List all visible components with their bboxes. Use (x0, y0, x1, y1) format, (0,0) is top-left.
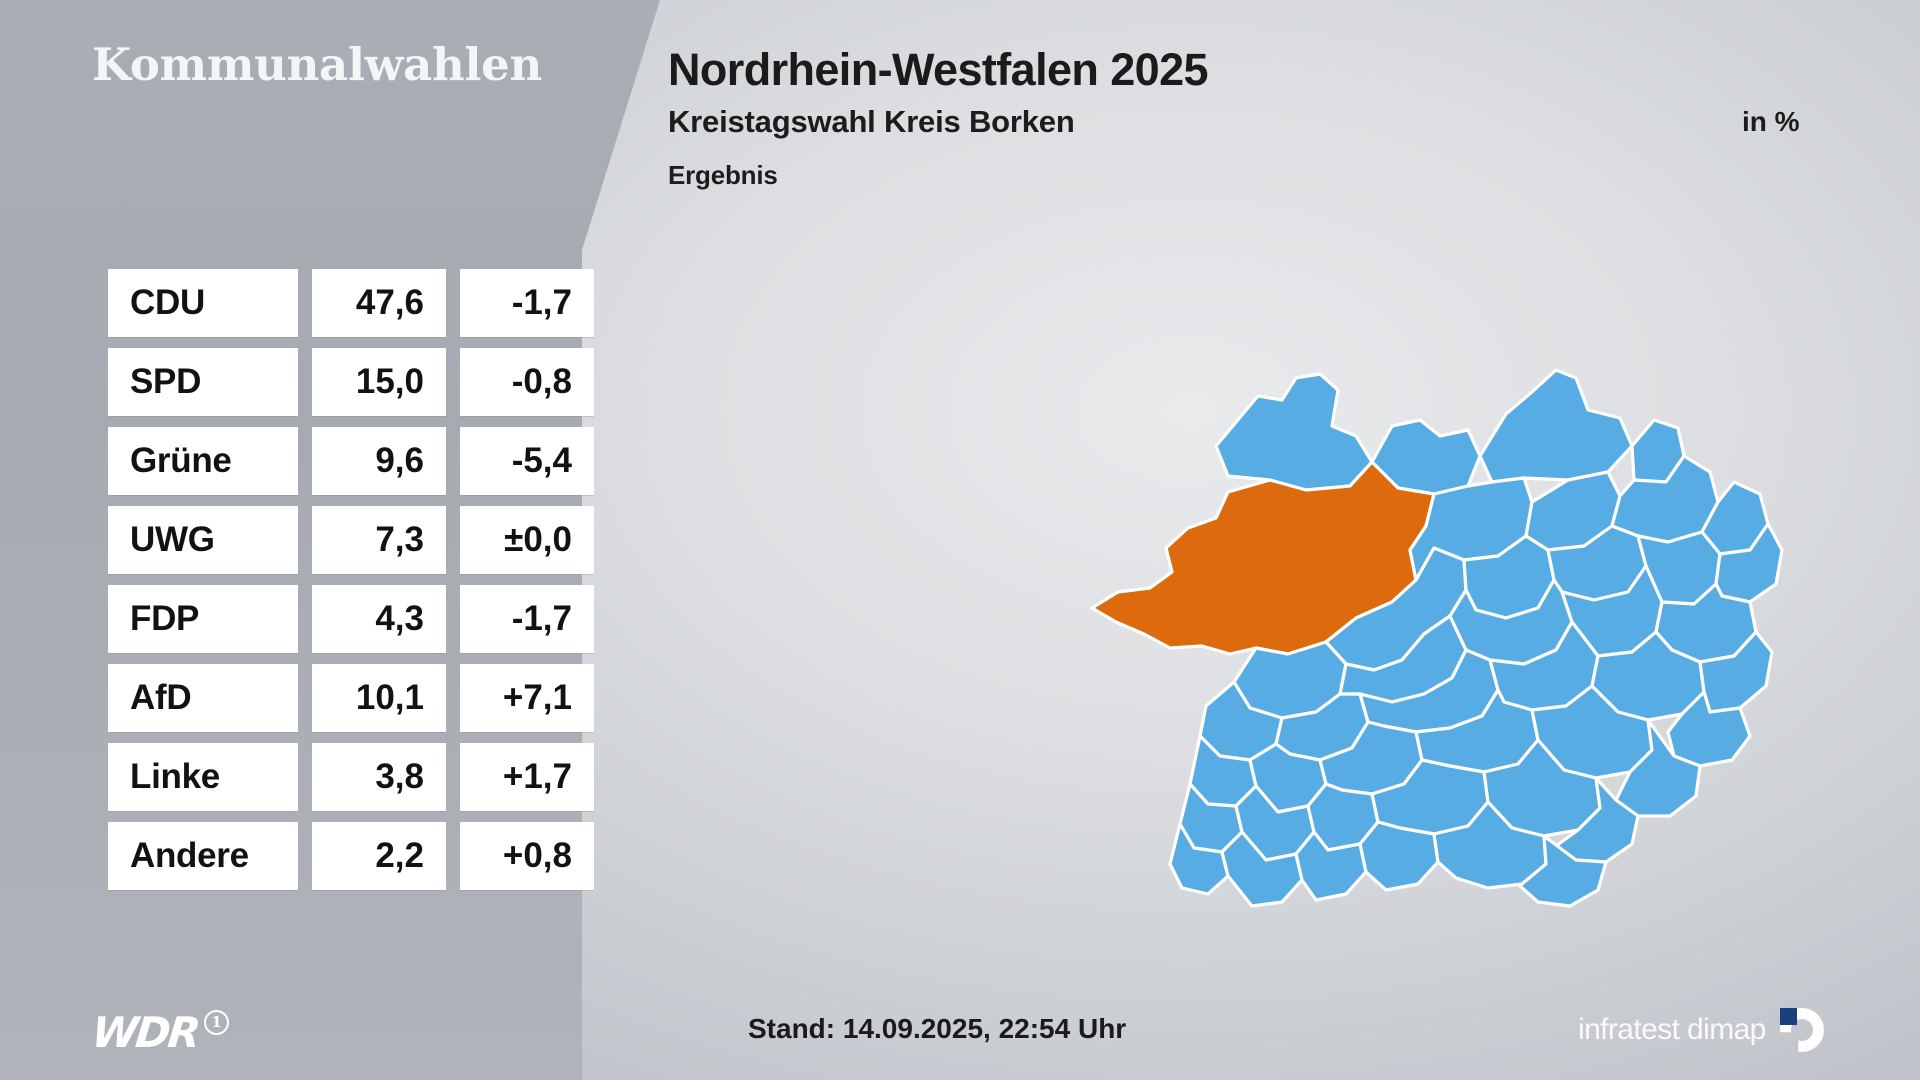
election-title: Nordrhein-Westfalen 2025 (668, 44, 1208, 96)
party-change: -0,8 (460, 348, 594, 416)
election-subtitle: Kreistagswahl Kreis Borken (668, 104, 1075, 140)
party-name: Linke (108, 743, 298, 811)
party-name: AfD (108, 664, 298, 732)
party-name: SPD (108, 348, 298, 416)
infratest-dimap-logo: infratest dimap (1578, 1008, 1824, 1052)
results-table: CDU 47,6 -1,7 SPD 15,0 -0,8 Grüne 9,6 -5… (94, 258, 608, 901)
square-shape (1780, 1008, 1797, 1025)
party-change: ±0,0 (460, 506, 594, 574)
party-change: -1,7 (460, 585, 594, 653)
election-section-label: Ergebnis (668, 160, 778, 191)
district (1216, 374, 1372, 490)
district (1480, 370, 1632, 482)
table-row: UWG 7,3 ±0,0 (108, 506, 594, 574)
party-result: 9,6 (312, 427, 446, 495)
party-result: 7,3 (312, 506, 446, 574)
map-districts (1092, 370, 1782, 906)
table-row: CDU 47,6 -1,7 (108, 269, 594, 337)
table-row: Linke 3,8 +1,7 (108, 743, 594, 811)
table-row: FDP 4,3 -1,7 (108, 585, 594, 653)
page-title: Kommunalwahlen (92, 38, 542, 91)
party-name: UWG (108, 506, 298, 574)
party-change: -5,4 (460, 427, 594, 495)
party-name: Grüne (108, 427, 298, 495)
wdr-logo-text: WDR (89, 1008, 200, 1057)
party-result: 15,0 (312, 348, 446, 416)
party-result: 3,8 (312, 743, 446, 811)
table-row: SPD 15,0 -0,8 (108, 348, 594, 416)
party-change: +0,8 (460, 822, 594, 890)
infratest-dimap-mark-icon (1780, 1008, 1824, 1052)
party-result: 10,1 (312, 664, 446, 732)
timestamp-label: Stand: 14.09.2025, 22:54 Uhr (748, 1013, 1126, 1045)
unit-label: in % (1742, 106, 1800, 138)
table-row: Grüne 9,6 -5,4 (108, 427, 594, 495)
infographic-root: Kommunalwahlen Nordrhein-Westfalen 2025 … (0, 0, 1920, 1080)
district (1360, 822, 1438, 890)
ard-one-icon: 1 (204, 1010, 229, 1035)
table-row: Andere 2,2 +0,8 (108, 822, 594, 890)
wdr-logo: WDR 1 (92, 1008, 229, 1057)
nrw-district-map (1020, 250, 1820, 950)
party-name: CDU (108, 269, 298, 337)
party-change: -1,7 (460, 269, 594, 337)
table-row: AfD 10,1 +7,1 (108, 664, 594, 732)
party-name: Andere (108, 822, 298, 890)
party-change: +7,1 (460, 664, 594, 732)
party-result: 47,6 (312, 269, 446, 337)
party-result: 2,2 (312, 822, 446, 890)
party-result: 4,3 (312, 585, 446, 653)
party-name: FDP (108, 585, 298, 653)
party-change: +1,7 (460, 743, 594, 811)
ard-one-label: 1 (211, 1015, 221, 1030)
results-table-body: CDU 47,6 -1,7 SPD 15,0 -0,8 Grüne 9,6 -5… (108, 269, 594, 890)
infratest-dimap-logo-text: infratest dimap (1578, 1013, 1766, 1047)
